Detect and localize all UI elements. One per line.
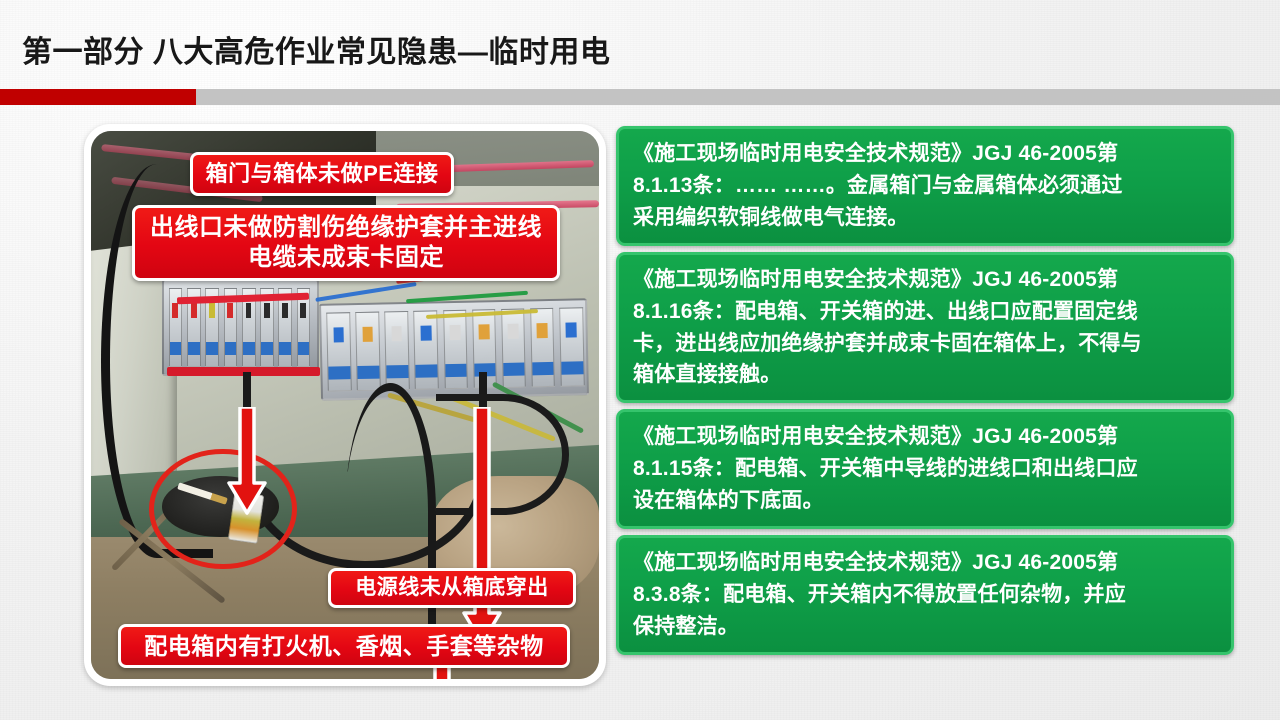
regulation-line: 8.3.8条：配电箱、开关箱内不得放置任何杂物，并应 [633, 579, 1219, 611]
arrow-down-center-icon [461, 407, 503, 647]
regulation-line: 《施工现场临时用电安全技术规范》JGJ 46-2005第 [633, 138, 1219, 170]
callout-debris-in-box: 配电箱内有打火机、香烟、手套等杂物 [118, 624, 570, 668]
regulation-line: 《施工现场临时用电安全技术规范》JGJ 46-2005第 [633, 264, 1219, 296]
arrow-down-left-icon [226, 407, 268, 517]
callout-outlet-text: 出线口未做防割伤绝缘护套并主进线 电缆未成束卡固定 [150, 213, 542, 273]
regulation-list: 《施工现场临时用电安全技术规范》JGJ 46-2005第 8.1.13条：…… … [616, 126, 1234, 661]
photo-breaker [297, 288, 311, 366]
callout-pe-connection: 箱门与箱体未做PE连接 [190, 152, 454, 196]
page-title: 第一部分 八大高危作业常见隐患—临时用电 [22, 27, 610, 71]
photo-breaker [558, 308, 583, 387]
slide-canvas: 第一部分 八大高危作业常见隐患—临时用电 [0, 0, 1280, 720]
regulation-line: 8.1.16条：配电箱、开关箱的进、出线口应配置固定线 [633, 296, 1219, 328]
regulation-card: 《施工现场临时用电安全技术规范》JGJ 46-2005第 8.1.13条：…… … [616, 126, 1234, 246]
callout-outlet-sheath: 出线口未做防割伤绝缘护套并主进线 电缆未成束卡固定 [132, 205, 560, 281]
regulation-card: 《施工现场临时用电安全技术规范》JGJ 46-2005第 8.1.16条：配电箱… [616, 252, 1234, 404]
regulation-line: 采用编织软铜线做电气连接。 [633, 202, 1219, 234]
callout-power-line-bottom: 电源线未从箱底穿出 [328, 568, 576, 608]
regulation-line: 设在箱体的下底面。 [633, 485, 1219, 517]
regulation-line: 8.1.15条：配电箱、开关箱中导线的进线口和出线口应 [633, 453, 1219, 485]
photo-breaker [529, 308, 554, 387]
regulation-line: 《施工现场临时用电安全技术规范》JGJ 46-2005第 [633, 421, 1219, 453]
regulation-line: 箱体直接接触。 [633, 359, 1219, 391]
regulation-line: 卡，进出线应加绝缘护套并成束卡固在箱体上，不得与 [633, 328, 1219, 360]
regulation-card: 《施工现场临时用电安全技术规范》JGJ 46-2005第 8.1.15条：配电箱… [616, 409, 1234, 529]
regulation-line: 8.1.13条：…… ……。金属箱门与金属箱体必须通过 [633, 170, 1219, 202]
photo-breaker [500, 309, 525, 388]
regulation-card: 《施工现场临时用电安全技术规范》JGJ 46-2005第 8.3.8条：配电箱、… [616, 535, 1234, 655]
highlight-circle [149, 449, 296, 570]
regulation-line: 《施工现场临时用电安全技术规范》JGJ 46-2005第 [633, 547, 1219, 579]
regulation-line: 保持整洁。 [633, 611, 1219, 643]
header-accent-bar [0, 89, 196, 105]
header-divider-bar [0, 89, 1280, 105]
